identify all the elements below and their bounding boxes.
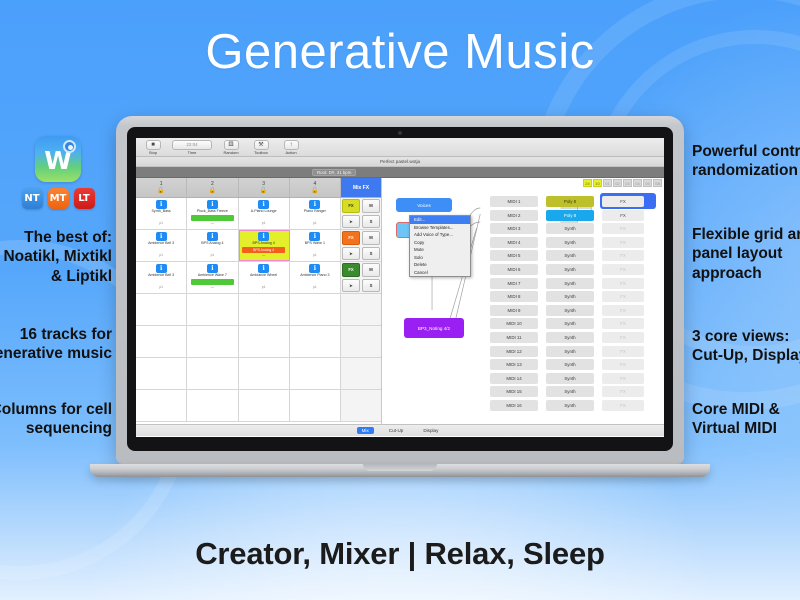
fx-row: FXM xyxy=(341,262,381,278)
dice-icon[interactable]: ⚅ xyxy=(224,140,239,150)
wotja-logo-letter: W xyxy=(35,148,81,173)
feature-line: Columns for cell xyxy=(0,400,112,419)
voice-info-icon[interactable]: i xyxy=(156,232,167,241)
midi-fx-button[interactable]: FX xyxy=(602,346,644,357)
strip-segment[interactable]: 24 xyxy=(583,179,592,187)
column-number: 3 xyxy=(262,182,265,187)
grid-cell[interactable] xyxy=(239,390,290,421)
voice-info-icon[interactable]: i xyxy=(156,200,167,209)
midi-channel[interactable]: MIDI 2 xyxy=(490,210,538,221)
grid-column-header-4[interactable]: 4🔓 xyxy=(290,178,341,197)
voice-info-icon[interactable]: i xyxy=(309,232,320,241)
cell-bar[interactable] xyxy=(242,279,285,285)
toolbar-random-label: Random xyxy=(223,151,238,155)
grid-cell[interactable] xyxy=(187,390,238,421)
view-tab-cut-up[interactable]: Cut-Up xyxy=(384,427,409,434)
context-menu-item[interactable]: Browse Templates... xyxy=(410,224,470,232)
cell-bar[interactable] xyxy=(140,279,183,285)
noatikl-icon: NT xyxy=(22,188,43,209)
document-title-bar: Perfect pastel.wotja xyxy=(136,157,664,167)
cell-name: BPS Wave 1 xyxy=(305,242,325,246)
midi-channel[interactable]: MIDI 11 xyxy=(490,332,538,343)
solo-button[interactable]: S xyxy=(362,215,380,229)
feature-line: 16 tracks for xyxy=(0,325,112,344)
strip-segment[interactable]: 02 xyxy=(613,179,622,187)
feature-line: randomization xyxy=(692,161,800,180)
cell-footer: — xyxy=(211,222,214,225)
cell-footer: p1 xyxy=(262,222,266,225)
solo-button[interactable]: S xyxy=(362,279,380,293)
cell-bar[interactable]: BPS Analog 4 xyxy=(242,247,285,253)
route-arrow-icon[interactable]: ➤ xyxy=(342,279,360,293)
stop-glyph: ■ xyxy=(151,142,155,148)
grid-row xyxy=(136,390,381,422)
mix-fx-column: FXM➤S xyxy=(341,262,381,293)
context-menu-item[interactable]: Copy xyxy=(410,239,470,247)
mix-fx-column: FXM➤S xyxy=(341,198,381,229)
dice-glyph: ⚅ xyxy=(228,142,233,148)
mix-fx-header[interactable]: Mix FX xyxy=(341,178,381,197)
cell-name: Piano Ranger xyxy=(304,210,326,214)
grid-cell[interactable]: iBPS Wave 1p1 xyxy=(290,230,341,261)
midi-voice[interactable]: Poly 8 xyxy=(546,196,594,207)
midi-voice[interactable]: Synth xyxy=(546,278,594,289)
feature-line: sequencing xyxy=(0,419,112,438)
cell-name: BPS Analog 4 xyxy=(253,242,275,246)
midi-voice[interactable]: Synth xyxy=(546,237,594,248)
context-menu-item[interactable]: Cancel xyxy=(410,269,470,277)
status-bar: Root: D#, 31 bpm xyxy=(136,167,664,178)
toolbar-time-label: Time xyxy=(188,151,197,155)
wotja-app-icon: W xyxy=(35,136,81,182)
feature-line: Core MIDI & xyxy=(692,400,800,419)
midi-fx-button[interactable]: FX xyxy=(602,386,644,397)
column-number: 2 xyxy=(211,182,214,187)
feature-line: approach xyxy=(692,264,800,283)
feature-line: Cut-Up, Display, Mix xyxy=(692,346,800,365)
midi-fx-button[interactable]: FX xyxy=(602,237,644,248)
mix-fx-column: FXM➤S xyxy=(341,230,381,261)
feature-line: generative music xyxy=(0,344,112,363)
column-number: 1 xyxy=(160,182,163,187)
cell-footer: p1 xyxy=(313,254,317,257)
midi-voice[interactable]: Synth xyxy=(546,318,594,329)
midi-channel[interactable]: MIDI 14 xyxy=(490,373,538,384)
cell-footer: — xyxy=(262,254,265,257)
grid-cell[interactable] xyxy=(187,294,238,325)
context-menu[interactable]: Edit...Browse Templates...Add Voice of T… xyxy=(409,215,471,277)
cell-bar[interactable] xyxy=(293,247,336,253)
lock-icon[interactable]: 🔒 xyxy=(209,188,216,194)
grid-column-header-1[interactable]: 1🔓 xyxy=(136,178,187,197)
grid-column-header-2[interactable]: 2🔒 xyxy=(187,178,238,197)
midi-channel[interactable]: MIDI 4 xyxy=(490,237,538,248)
midi-channel[interactable]: MIDI 3 xyxy=(490,223,538,234)
grid-column-headers: 1🔓2🔒3🔓4🔓Mix FX xyxy=(136,178,381,198)
laptop-base xyxy=(90,464,710,477)
midi-channel[interactable]: MIDI 8 xyxy=(490,291,538,302)
document-title: Perfect pastel.wotja xyxy=(380,159,420,164)
midi-channel[interactable]: MIDI 7 xyxy=(490,278,538,289)
fx-button[interactable]: FX xyxy=(342,263,360,277)
lock-icon[interactable]: 🔓 xyxy=(157,188,164,194)
status-badge: Root: D#, 31 bpm xyxy=(312,169,356,176)
cell-name: Ambience Bell 3 xyxy=(148,274,174,278)
midi-voice[interactable]: Synth xyxy=(546,400,594,411)
midi-fx-button[interactable]: FX xyxy=(602,264,644,275)
cell-name: Pluck_Bass Freeze xyxy=(197,210,228,214)
midi-channel[interactable]: MIDI 15 xyxy=(490,386,538,397)
feature-line: & Liptikl xyxy=(0,267,112,286)
midi-channel[interactable]: MIDI 6 xyxy=(490,264,538,275)
strip-segment[interactable]: 04 xyxy=(633,179,642,187)
cell-footer: p1 xyxy=(262,286,266,289)
time-value: 22:04 xyxy=(186,142,197,147)
mute-button[interactable]: M xyxy=(362,263,380,277)
cell-footer: p1 xyxy=(313,286,317,289)
page-caption: Creator, Mixer | Relax, Sleep xyxy=(0,536,800,572)
piece-control-strip[interactable]: 24100102030405SB xyxy=(583,179,662,187)
strip-segment[interactable]: 05 xyxy=(643,179,652,187)
feature-item: 3 core views:Cut-Up, Display, Mix xyxy=(692,327,800,366)
cell-name: Synth_Bass xyxy=(152,210,171,214)
fx-row: FXM xyxy=(341,198,381,214)
toolbox-glyph: ⚒ xyxy=(258,142,263,148)
context-menu-item[interactable]: Solo xyxy=(410,254,470,262)
midi-voice[interactable]: Synth xyxy=(546,359,594,370)
grid-row: iAmbience Bell 3p1iBPS Analog 4p1iBPS An… xyxy=(136,230,381,262)
midi-fx-button[interactable]: FX xyxy=(602,332,644,343)
voice-info-icon[interactable]: i xyxy=(309,264,320,273)
grid-cell[interactable] xyxy=(239,326,290,357)
cell-name: Ambiance Wheel xyxy=(250,274,277,278)
midi-fx-button[interactable]: FX xyxy=(602,278,644,289)
laptop-lid: ■ Stop 22:04 Time ⚅ Random ⚒ Toolbox xyxy=(116,116,684,464)
strip-segment[interactable]: 10 xyxy=(593,179,602,187)
context-menu-item[interactable]: Mute xyxy=(410,246,470,254)
toolbar-action[interactable]: ↑ Action xyxy=(278,140,304,155)
grid-cell[interactable]: iAmbience Bell 3p1 xyxy=(136,230,187,261)
mix-fx-column xyxy=(341,326,381,357)
legacy-app-icons: NTMTLT xyxy=(16,188,100,209)
mixtikl-icon: MT xyxy=(48,188,69,209)
grid-cell[interactable]: iAmbience Wave 7— xyxy=(187,262,238,293)
voice-info-icon[interactable]: i xyxy=(309,200,320,209)
action-icon[interactable]: ↑ xyxy=(284,140,299,150)
grid-cell[interactable] xyxy=(239,294,290,325)
feature-line: Flexible grid and xyxy=(692,225,800,244)
midi-voice[interactable]: Synth xyxy=(546,386,594,397)
fx-button[interactable]: FX xyxy=(342,199,360,213)
feature-line: panel layout xyxy=(692,244,800,263)
lock-icon[interactable]: 🔓 xyxy=(311,188,318,194)
grid-cell[interactable]: iSynth_Bassp1 xyxy=(136,198,187,229)
midi-fx-button[interactable]: FX xyxy=(602,359,644,370)
feature-line: Powerful control & xyxy=(692,142,800,161)
grid-cell[interactable]: iAmbience Bell 3p1 xyxy=(136,262,187,293)
grid-cell[interactable] xyxy=(187,358,238,389)
route-arrow-icon[interactable]: ➤ xyxy=(342,247,360,261)
midi-voice[interactable]: Synth xyxy=(546,250,594,261)
midi-channel[interactable]: MIDI 9 xyxy=(490,305,538,316)
toolbar-random[interactable]: ⚅ Random xyxy=(218,140,244,155)
voice-info-icon[interactable]: i xyxy=(207,264,218,273)
node-voices-label: Voices xyxy=(417,203,431,208)
grid-cell[interactable] xyxy=(136,358,187,389)
cell-grid-pane: 1🔓2🔒3🔓4🔓Mix FX iSynth_Bassp1iPluck_Bass … xyxy=(136,178,382,424)
context-menu-item[interactable]: Edit... xyxy=(410,216,470,224)
laptop-mockup: ■ Stop 22:04 Time ⚅ Random ⚒ Toolbox xyxy=(116,116,684,477)
midi-channel[interactable]: MIDI 13 xyxy=(490,359,538,370)
feature-line: The best of: xyxy=(0,228,112,247)
toolbar-action-label: Action xyxy=(285,151,296,155)
time-display: 22:04 xyxy=(172,140,212,150)
grid-cell[interactable] xyxy=(136,390,187,421)
solo-button[interactable]: S xyxy=(362,247,380,261)
cell-footer: p1 xyxy=(159,286,163,289)
laptop-bezel: ■ Stop 22:04 Time ⚅ Random ⚒ Toolbox xyxy=(127,127,673,451)
midi-fx-button[interactable]: FX xyxy=(602,250,644,261)
cell-bar[interactable] xyxy=(191,247,234,253)
midi-channel[interactable]: MIDI 10 xyxy=(490,318,538,329)
voice-info-icon[interactable]: i xyxy=(207,200,218,209)
cell-bar[interactable] xyxy=(140,215,183,221)
midi-fx-button[interactable]: FX xyxy=(602,223,644,234)
grid-cell[interactable] xyxy=(290,326,341,357)
toolbar-toolbox-label: Toolbox xyxy=(254,151,268,155)
grid-cell[interactable]: iBPS Analog 4BPS Analog 4— xyxy=(239,230,290,261)
cell-footer: p1 xyxy=(313,222,317,225)
mute-button[interactable]: M xyxy=(362,231,380,245)
view-tabs: MixCut-UpDisplay xyxy=(136,424,664,436)
fx-button[interactable]: FX xyxy=(342,231,360,245)
grid-cell[interactable] xyxy=(290,358,341,389)
column-number: 4 xyxy=(313,182,316,187)
view-tab-mix[interactable]: Mix xyxy=(357,427,374,434)
mix-fx-column xyxy=(341,358,381,389)
grid-cell[interactable] xyxy=(187,326,238,357)
grid-row: iSynth_Bassp1iPluck_Bass Freeze—iA-Piano… xyxy=(136,198,381,230)
stop-icon[interactable]: ■ xyxy=(146,140,161,150)
grid-cell[interactable] xyxy=(290,390,341,421)
voice-info-icon[interactable]: i xyxy=(258,232,269,241)
page-title: Generative Music xyxy=(0,24,800,80)
grid-cell[interactable]: iPluck_Bass Freeze— xyxy=(187,198,238,229)
toolbox-icon[interactable]: ⚒ xyxy=(254,140,269,150)
feature-line: 3 core views: xyxy=(692,327,800,346)
view-tab-display[interactable]: Display xyxy=(418,427,443,434)
voice-info-icon[interactable]: i xyxy=(156,264,167,273)
midi-voice[interactable]: Synth xyxy=(546,373,594,384)
midi-voice[interactable]: Synth xyxy=(546,305,594,316)
cell-bar[interactable] xyxy=(140,247,183,253)
mix-fx-column xyxy=(341,390,381,421)
context-menu-item[interactable]: Add Voice of Type... xyxy=(410,231,470,239)
grid-cell[interactable]: iA-Piano Loungep1 xyxy=(239,198,290,229)
cell-footer: — xyxy=(211,286,214,289)
node-voices[interactable]: Voices xyxy=(396,198,452,212)
grid-row xyxy=(136,326,381,358)
midi-channel[interactable]: MIDI 12 xyxy=(490,346,538,357)
feature-line: Noatikl, Mixtikl xyxy=(0,247,112,266)
grid-cell[interactable]: iBPS Analog 4p1 xyxy=(187,230,238,261)
midi-voice[interactable]: Poly 8 xyxy=(546,210,594,221)
grid-row xyxy=(136,294,381,326)
feature-item: Core MIDI &Virtual MIDI xyxy=(692,400,800,439)
midi-channel[interactable]: MIDI 16 xyxy=(490,400,538,411)
grid-cell[interactable]: iAmbience Piano 3p1 xyxy=(290,262,341,293)
midi-channel[interactable]: MIDI 5 xyxy=(490,250,538,261)
toolbar-toolbox[interactable]: ⚒ Toolbox xyxy=(248,140,274,155)
route-arrow-icon[interactable]: ➤ xyxy=(342,215,360,229)
node-bp3-noting-label: BP3_Noting 4/2 xyxy=(418,326,450,331)
strip-segment[interactable]: 03 xyxy=(623,179,632,187)
liptikl-icon: LT xyxy=(74,188,95,209)
webcam-icon xyxy=(398,131,402,135)
app-toolbar: ■ Stop 22:04 Time ⚅ Random ⚒ Toolbox xyxy=(136,138,664,157)
main-area: 1🔓2🔒3🔓4🔓Mix FX iSynth_Bassp1iPluck_Bass … xyxy=(136,178,664,424)
wotja-signal-icon xyxy=(63,140,76,153)
grid-column-header-3[interactable]: 3🔓 xyxy=(239,178,290,197)
action-glyph: ↑ xyxy=(290,142,293,148)
fx-row: ➤S xyxy=(341,246,381,262)
cell-name: A-Piano Lounge xyxy=(251,210,277,214)
midi-channel[interactable]: MIDI 1 xyxy=(490,196,538,207)
grid-cell[interactable] xyxy=(136,326,187,357)
cell-bar[interactable] xyxy=(293,279,336,285)
fx-row: ➤S xyxy=(341,278,381,294)
midi-voice[interactable]: Synth xyxy=(546,332,594,343)
feature-item: Columns for cellsequencing xyxy=(0,400,112,439)
cell-bar[interactable] xyxy=(293,215,336,221)
midi-voice[interactable]: Synth xyxy=(546,346,594,357)
cell-name: Ambience Wave 7 xyxy=(198,274,227,278)
midi-fx-button[interactable]: FX xyxy=(602,210,644,221)
cell-bar[interactable] xyxy=(191,215,234,221)
context-menu-item[interactable]: Delete xyxy=(410,261,470,269)
cell-footer: p1 xyxy=(159,254,163,257)
grid-cell[interactable]: iAmbiance Wheelp1 xyxy=(239,262,290,293)
midi-fx-button[interactable]: FX xyxy=(602,291,644,302)
cell-bar[interactable] xyxy=(191,279,234,285)
grid-row: iAmbience Bell 3p1iAmbience Wave 7—iAmbi… xyxy=(136,262,381,294)
mute-button[interactable]: M xyxy=(362,199,380,213)
laptop-notch xyxy=(363,464,437,471)
feature-item: The best of:Noatikl, Mixtikl& Liptikl xyxy=(0,228,112,286)
grid-cell[interactable] xyxy=(290,294,341,325)
cell-footer: p1 xyxy=(211,254,215,257)
app-icon-cluster: W NTMTLT xyxy=(16,136,100,209)
cell-footer: p1 xyxy=(159,222,163,225)
voice-info-icon[interactable]: i xyxy=(258,200,269,209)
cell-bar[interactable] xyxy=(242,215,285,221)
toolbar-stop[interactable]: ■ Stop xyxy=(140,140,166,155)
mix-graph-pane: 24100102030405SB Voices BP3_No... BP3_No… xyxy=(382,178,664,424)
midi-fx-button[interactable]: FX xyxy=(602,400,644,411)
feature-item: 16 tracks forgenerative music xyxy=(0,325,112,364)
midi-fx-button[interactable]: FX xyxy=(602,318,644,329)
cell-name: Ambience Bell 3 xyxy=(148,242,174,246)
grid-rows: iSynth_Bassp1iPluck_Bass Freeze—iA-Piano… xyxy=(136,198,381,424)
grid-row xyxy=(136,358,381,390)
cell-name: BPS Analog 4 xyxy=(201,242,223,246)
node-bp3-noting[interactable]: BP3_Noting 4/2 xyxy=(404,318,464,338)
midi-fx-button[interactable]: FX xyxy=(602,305,644,316)
voice-info-icon[interactable]: i xyxy=(258,264,269,273)
feature-item: Powerful control &randomization xyxy=(692,142,800,181)
voice-info-icon[interactable]: i xyxy=(207,232,218,241)
strip-segment[interactable]: SB xyxy=(653,179,662,187)
laptop-screen: ■ Stop 22:04 Time ⚅ Random ⚒ Toolbox xyxy=(136,138,664,437)
midi-voice[interactable]: Synth xyxy=(546,291,594,302)
midi-fx-button[interactable]: FX xyxy=(602,196,644,207)
lock-icon[interactable]: 🔓 xyxy=(260,188,267,194)
fx-row: ➤S xyxy=(341,214,381,230)
fx-row: FXM xyxy=(341,230,381,246)
cell-bar-label: BPS Analog 4 xyxy=(242,247,285,253)
toolbar-time[interactable]: 22:04 Time xyxy=(170,140,214,155)
strip-segment[interactable]: 01 xyxy=(603,179,612,187)
mix-fx-column xyxy=(341,294,381,325)
feature-item: Flexible grid andpanel layoutapproach xyxy=(692,225,800,283)
feature-line: Virtual MIDI xyxy=(692,419,800,438)
cell-name: Ambience Piano 3 xyxy=(300,274,329,278)
grid-cell[interactable] xyxy=(239,358,290,389)
grid-cell[interactable]: iPiano Rangerp1 xyxy=(290,198,341,229)
midi-voice[interactable]: Synth xyxy=(546,264,594,275)
grid-cell[interactable] xyxy=(136,294,187,325)
toolbar-stop-label: Stop xyxy=(149,151,157,155)
midi-fx-button[interactable]: FX xyxy=(602,373,644,384)
midi-voice[interactable]: Synth xyxy=(546,223,594,234)
